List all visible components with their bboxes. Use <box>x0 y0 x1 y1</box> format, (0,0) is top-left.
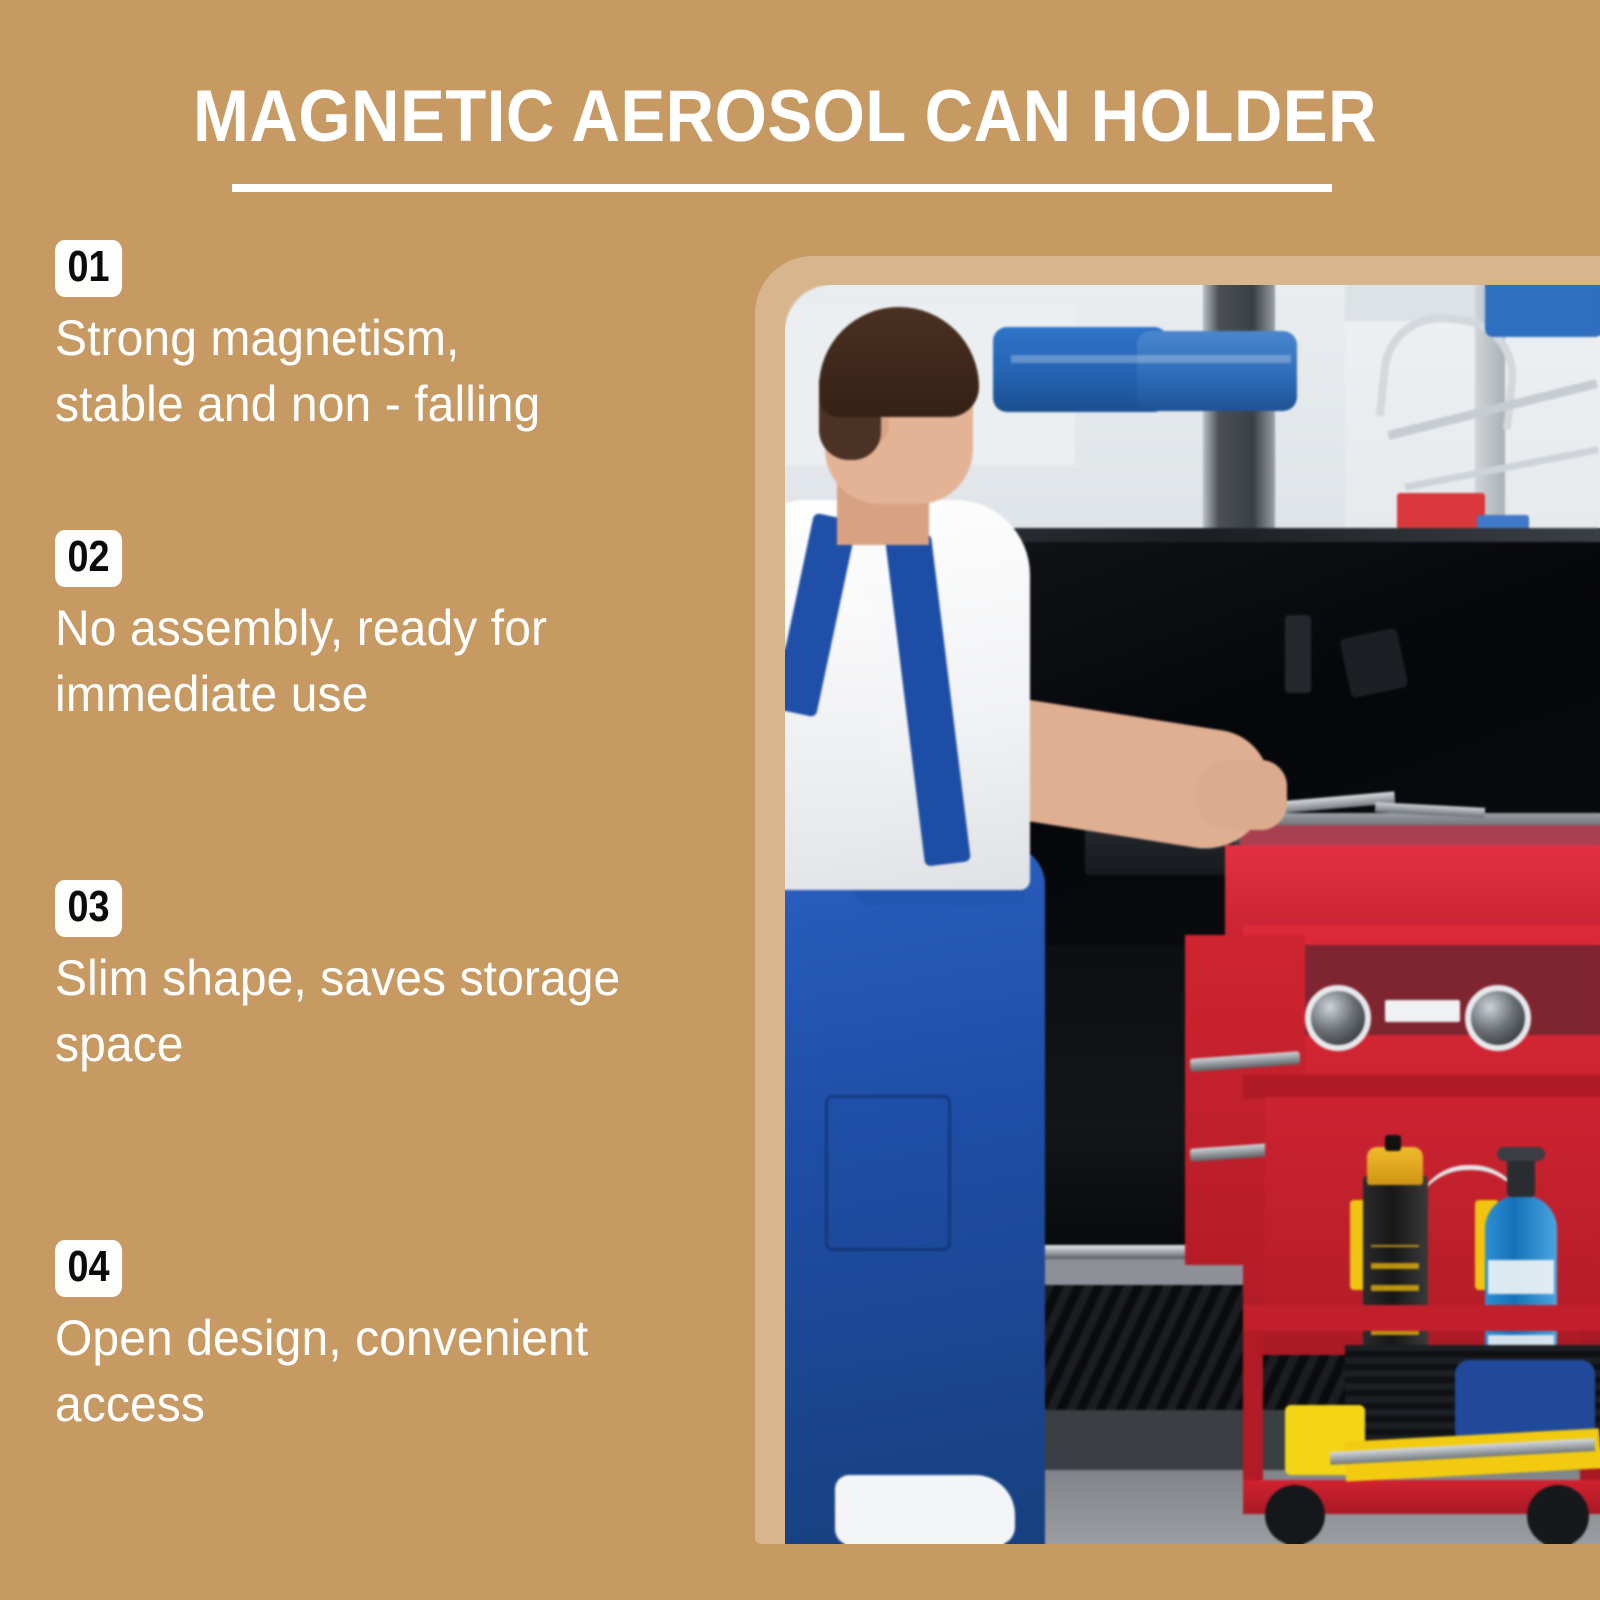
hood-bracket <box>1339 628 1408 699</box>
product-photo <box>785 285 1600 1544</box>
aerosol-can-cap <box>1367 1147 1423 1185</box>
aerosol-can-nozzle <box>1385 1135 1401 1151</box>
feature-number-badge: 02 <box>55 530 122 587</box>
mechanic-hand <box>1195 760 1287 830</box>
gas-cylinder-label <box>1488 1260 1554 1294</box>
car-hood-edge <box>935 528 1600 542</box>
blue-machine <box>1485 285 1600 337</box>
title-underline-divider <box>232 184 1332 192</box>
feature-description: Strong magnetism, stable and non - falli… <box>55 305 698 437</box>
cylinder-knob <box>1497 1147 1545 1161</box>
blue-barrel <box>1137 331 1297 411</box>
product-photo-frame <box>755 256 1600 1544</box>
feature-number-badge: 04 <box>55 1240 122 1297</box>
cart-lower-rail <box>1243 1305 1600 1331</box>
barrel-band <box>1011 355 1291 363</box>
feature-description: Open design, convenient access <box>55 1305 698 1437</box>
cart-label-sticker <box>1385 1000 1460 1022</box>
feature-item: 01 Strong magnetism, stable and non - fa… <box>55 240 725 437</box>
header: MAGNETIC AEROSOL CAN HOLDER <box>0 0 1600 215</box>
overalls-pocket <box>825 1095 951 1251</box>
mechanic-shoe <box>835 1475 1015 1544</box>
feature-item: 02 No assembly, ready for immediate use <box>55 530 725 727</box>
feature-description: Slim shape, saves storage space <box>55 945 698 1077</box>
feature-number-badge: 03 <box>55 880 122 937</box>
hood-latch <box>1285 615 1311 693</box>
cart-shelf <box>1243 1075 1600 1099</box>
pressure-gauge <box>1465 985 1531 1051</box>
infographic-page: MAGNETIC AEROSOL CAN HOLDER 01 Strong ma… <box>0 0 1600 1600</box>
page-title: MAGNETIC AEROSOL CAN HOLDER <box>63 78 1507 156</box>
caster-wheel <box>1265 1485 1325 1544</box>
feature-number-badge: 01 <box>55 240 122 297</box>
feature-item: 03 Slim shape, saves storage space <box>55 880 725 1077</box>
feature-description: No assembly, ready for immediate use <box>55 595 698 727</box>
pressure-gauge <box>1305 985 1371 1051</box>
feature-item: 04 Open design, convenient access <box>55 1240 725 1437</box>
caster-wheel <box>1527 1485 1589 1544</box>
cart-leg <box>1243 1331 1263 1481</box>
cylinder-valve <box>1507 1155 1535 1197</box>
